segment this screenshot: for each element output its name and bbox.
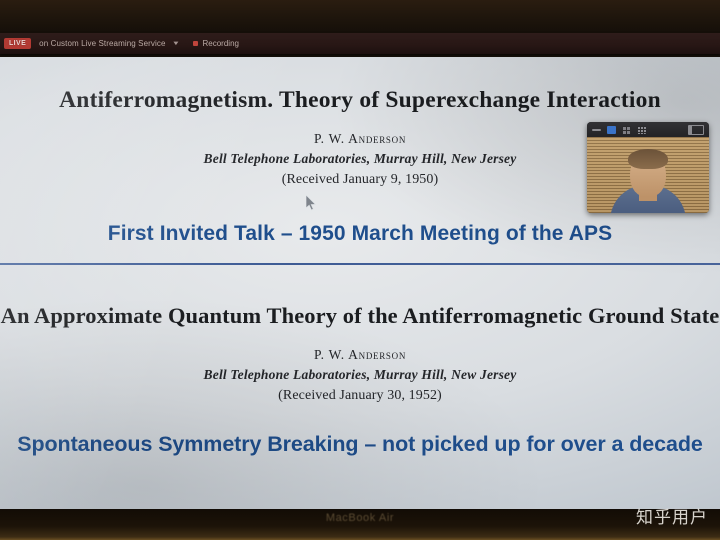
video-panel-toolbar — [587, 122, 709, 137]
live-status-text: on Custom Live Streaming Service — [39, 39, 165, 48]
participant-hair — [628, 149, 668, 169]
mouse-cursor-icon — [306, 195, 318, 211]
live-badge: LIVE — [4, 38, 31, 49]
laptop-screen-photo: LIVE on Custom Live Streaming Service ▼ … — [0, 0, 720, 540]
minimize-icon[interactable] — [592, 129, 601, 131]
slide-divider — [0, 263, 720, 265]
device-label: MacBook Air — [0, 512, 720, 524]
grid-view-icon[interactable] — [637, 126, 646, 134]
paper-affiliation-2: Bell Telephone Laboratories, Murray Hill… — [0, 367, 720, 383]
record-stop-icon[interactable] — [193, 41, 198, 46]
paper-title-2: An Approximate Quantum Theory of the Ant… — [0, 303, 720, 329]
watermark: 知乎用户 — [636, 503, 708, 528]
gallery-view-icon[interactable] — [622, 126, 631, 134]
speaker-view-icon[interactable] — [607, 126, 616, 134]
video-feed — [587, 137, 709, 213]
paper-title-1: Antiferromagnetism. Theory of Superexcha… — [0, 87, 720, 114]
slide-caption-2: Spontaneous Symmetry Breaking – not pick… — [0, 432, 720, 457]
chevron-down-icon[interactable]: ▼ — [171, 41, 179, 47]
paper-received-date-2: (Received January 30, 1952) — [0, 388, 720, 404]
slide-caption-1: First Invited Talk – 1950 March Meeting … — [0, 222, 720, 246]
self-view-video-panel[interactable] — [587, 122, 709, 213]
exit-fullscreen-icon[interactable] — [688, 125, 704, 135]
live-status-bar: LIVE on Custom Live Streaming Service ▼ … — [0, 33, 720, 54]
paper-author-2: P. W. Anderson — [0, 347, 720, 363]
recording-label: Recording — [203, 39, 239, 48]
